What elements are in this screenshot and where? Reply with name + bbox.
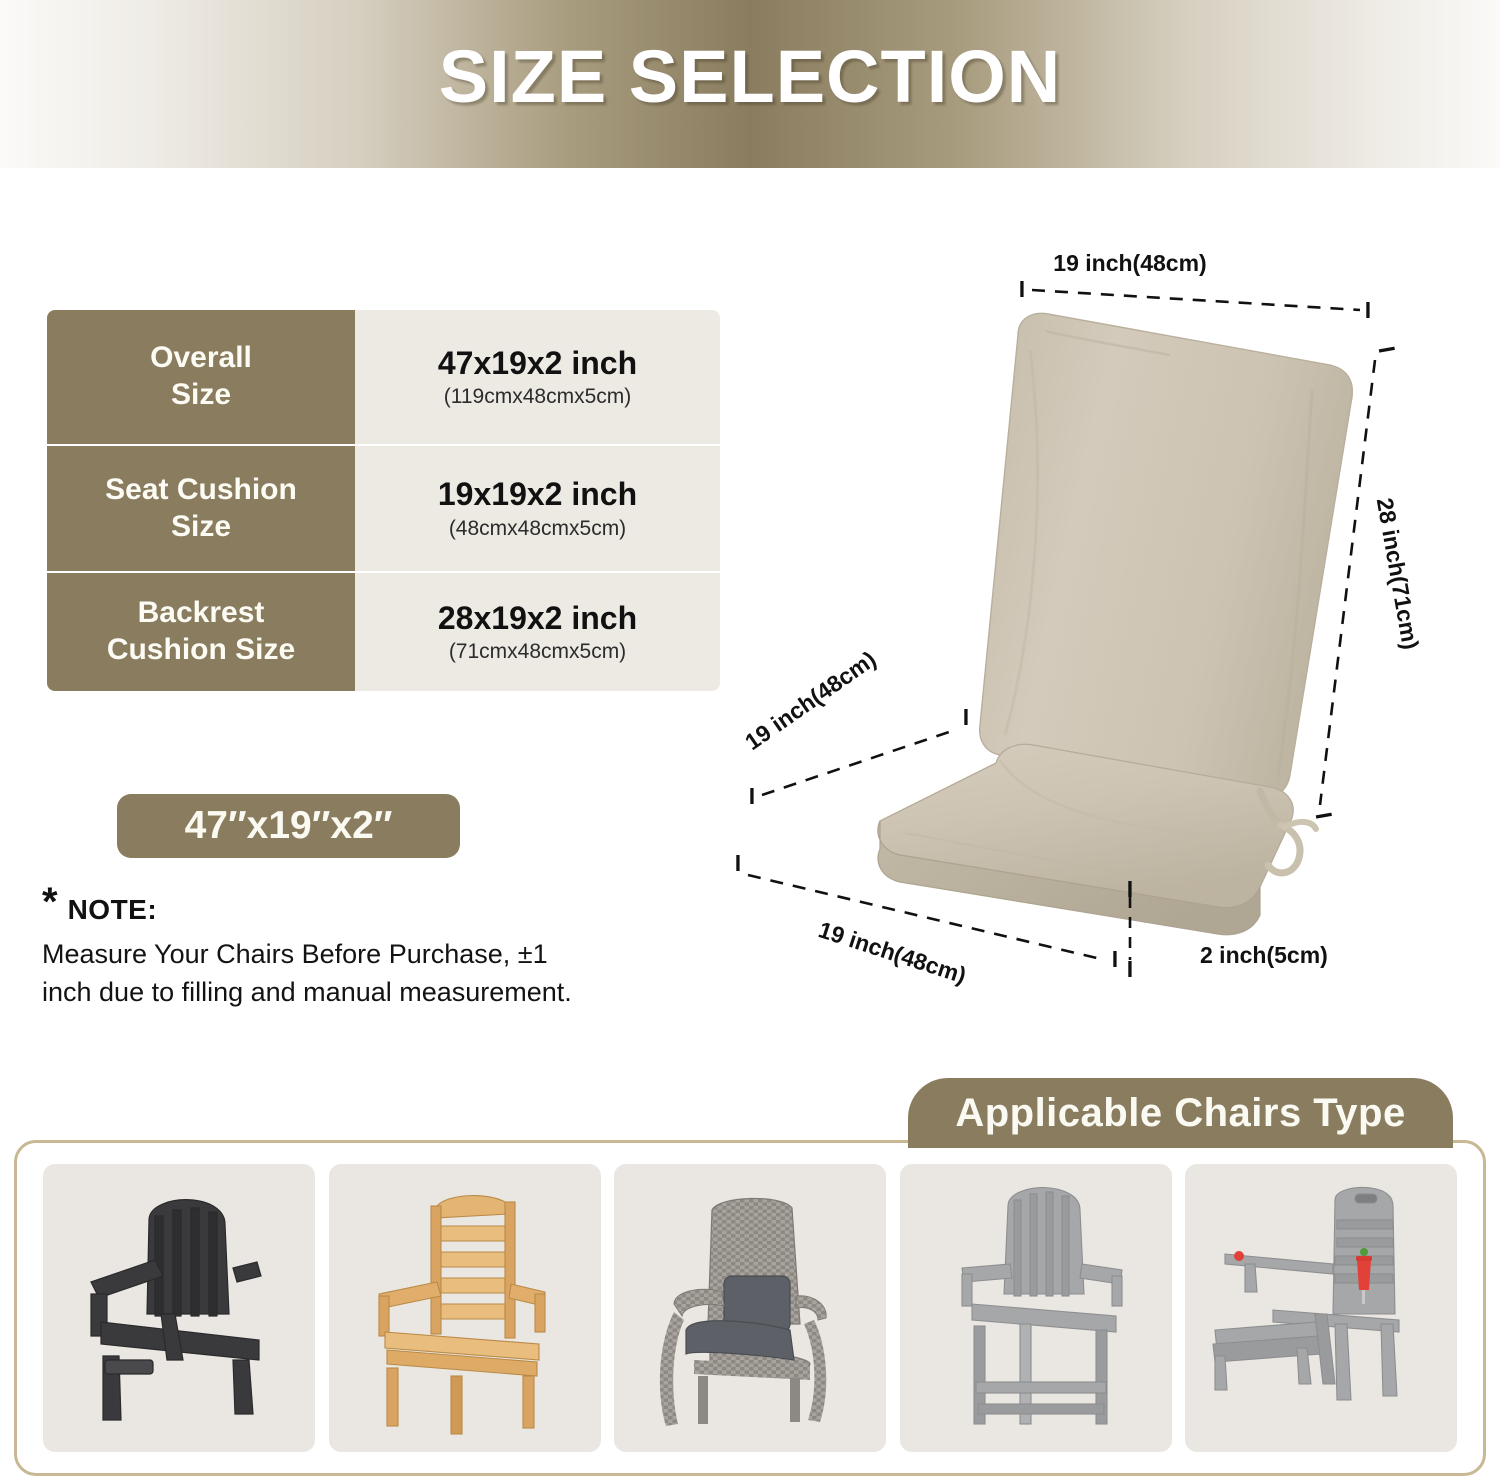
wicker-chair-icon (660, 1198, 826, 1426)
dimension-line (1032, 290, 1360, 310)
dimension-label-seat-depth: 19 inch(48cm) (740, 646, 881, 755)
applicable-chairs-panel (14, 1140, 1486, 1476)
tick-cap-bottom: I (1311, 810, 1338, 821)
table-row: Seat Cushion Size 19x19x2 inch (48cmx48c… (47, 446, 720, 573)
chair-thumbnail-gray-reclining-adirondack[interactable] (1185, 1164, 1457, 1452)
label-line-2: Size (171, 377, 231, 414)
dimension-label-seat-width: 19 inch(48cm) (816, 916, 970, 988)
size-badge: 47″x19″x2″ (117, 794, 460, 858)
note-line-1: Measure Your Chairs Before Purchase, ±1 (42, 935, 662, 973)
value-cm: (48cmx48cmx5cm) (449, 517, 626, 540)
dimension-backrest-width: 19 inch(48cm) I I (1019, 250, 1371, 323)
chair-thumbnail-black-folding-adirondack[interactable] (43, 1164, 315, 1452)
dimension-label-thickness: 2 inch(5cm) (1200, 942, 1328, 968)
backrest-cushion-shape (980, 313, 1353, 798)
size-row-label-backrest-cushion: Backrest Cushion Size (47, 573, 355, 691)
label-line-2: Size (171, 509, 231, 546)
reclining-adirondack-icon (1213, 1188, 1399, 1401)
size-row-value-backrest-cushion: 28x19x2 inch (71cmx48cmx5cm) (355, 573, 720, 691)
tick-cap-left: I (735, 850, 741, 876)
dimension-label-backrest-height: 28 inch(71cm) (1372, 496, 1424, 652)
value-inch: 47x19x2 inch (438, 346, 637, 382)
chair-thumbnail-gray-bar-height-adirondack[interactable] (900, 1164, 1172, 1452)
small-red-accent-icon (1234, 1251, 1244, 1261)
note-label: NOTE: (68, 885, 158, 926)
tick-cap-right: I (963, 704, 969, 730)
value-cm: (71cmx48cmx5cm) (449, 640, 626, 663)
note-block: * NOTE: Measure Your Chairs Before Purch… (42, 885, 662, 1012)
tick-cap-top: I (1374, 344, 1401, 355)
value-inch: 19x19x2 inch (438, 477, 637, 513)
tick-cap-right: I (1112, 946, 1118, 972)
chair-thumbnail-natural-wood-armchair[interactable] (329, 1164, 601, 1452)
note-line-2: inch due to filling and manual measureme… (42, 973, 662, 1011)
table-row: Backrest Cushion Size 28x19x2 inch (71cm… (47, 573, 720, 691)
black-adirondack-chair-icon (91, 1200, 261, 1420)
size-specification-table: Overall Size 47x19x2 inch (119cmx48cmx5c… (47, 310, 720, 691)
applicable-chairs-banner: Applicable Chairs Type (908, 1078, 1453, 1148)
size-row-value-seat-cushion: 19x19x2 inch (48cmx48cmx5cm) (355, 446, 720, 571)
dimension-label-backrest-width: 19 inch(48cm) (1053, 250, 1206, 276)
dimension-line (762, 730, 955, 795)
wood-armchair-icon (379, 1196, 545, 1434)
asterisk-icon: * (42, 885, 58, 919)
tick-cap-left: I (1019, 276, 1025, 302)
value-inch: 28x19x2 inch (438, 601, 637, 637)
tick-cap-bottom: I (1127, 956, 1133, 982)
label-line-2: Cushion Size (107, 632, 295, 669)
note-heading: * NOTE: (42, 885, 662, 926)
dimension-seat-depth: 19 inch(48cm) I I (740, 646, 969, 809)
size-row-value-overall: 47x19x2 inch (119cmx48cmx5cm) (355, 310, 720, 444)
page-title: SIZE SELECTION (0, 34, 1500, 119)
chair-thumbnail-gray-wicker-armchair[interactable] (614, 1164, 886, 1452)
label-line-1: Backrest (138, 595, 265, 632)
label-line-1: Overall (150, 340, 252, 377)
label-line-1: Seat Cushion (105, 472, 297, 509)
bar-height-adirondack-icon (962, 1188, 1122, 1424)
cushion-dimension-diagram: 19 inch(48cm) I I 28 inch(71cm) I I 19 i… (700, 215, 1500, 1025)
tick-cap-right: I (1365, 297, 1371, 323)
tick-cap-top: I (1127, 876, 1133, 902)
page-header-band: SIZE SELECTION (0, 0, 1500, 168)
value-cm: (119cmx48cmx5cm) (444, 385, 631, 408)
tick-cap-left: I (749, 783, 755, 809)
size-row-label-seat-cushion: Seat Cushion Size (47, 446, 355, 571)
table-row: Overall Size 47x19x2 inch (119cmx48cmx5c… (47, 310, 720, 446)
size-row-label-overall: Overall Size (47, 310, 355, 444)
